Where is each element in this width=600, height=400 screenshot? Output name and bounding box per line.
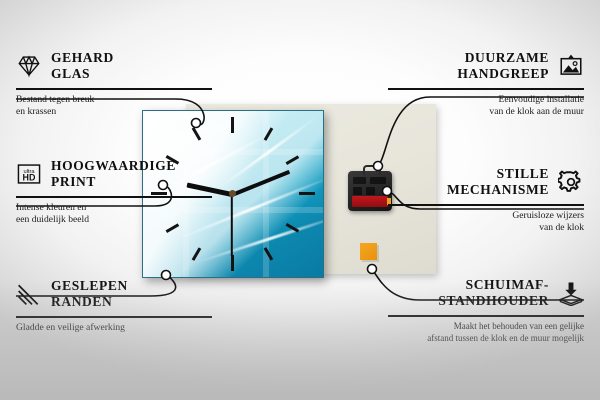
- feature-header: ultra HD HOOGWAARDIGEPRINT: [16, 158, 212, 191]
- feature-subtitle: Eenvoudige installatievan de klok aan de…: [388, 94, 584, 119]
- feature-title: STILLEMECHANISME: [447, 166, 549, 199]
- clock-tick: [192, 247, 201, 260]
- orange-foam-spacer: [360, 243, 377, 260]
- feature-durable-hanger: DUURZAMEHANDGREEP Eenvoudige installatie…: [388, 50, 584, 119]
- divider: [16, 88, 212, 90]
- divider: [388, 204, 584, 206]
- feature-subtitle: Maakt het behouden van een gelijkeafstan…: [388, 321, 584, 344]
- feature-subtitle: Gladde en veilige afwerking: [16, 322, 212, 334]
- diagonal-lines-icon: [16, 281, 42, 307]
- press-down-arrow-icon: [558, 280, 584, 306]
- product-infographic: GEHARDGLAS Bestand tegen breuken krassen…: [0, 0, 600, 400]
- clock-tick: [299, 192, 315, 195]
- picture-frame-icon: [558, 53, 584, 79]
- feature-header: SCHUIMAF-STANDHOUDER: [388, 277, 584, 310]
- gear-icon: [558, 169, 584, 195]
- feature-header: GEHARDGLAS: [16, 50, 212, 83]
- feature-header: GESLEPENRANDEN: [16, 278, 212, 311]
- feature-hd-print: ultra HD HOOGWAARDIGEPRINT Intense kleur…: [16, 158, 212, 227]
- clock-second-hand: [231, 194, 233, 256]
- feature-polished-edges: GESLEPENRANDEN Gladde en veilige afwerki…: [16, 278, 212, 334]
- divider: [16, 316, 212, 318]
- feature-foam-spacer: SCHUIMAF-STANDHOUDER Maakt het behouden …: [388, 277, 584, 344]
- clock-tick: [231, 117, 234, 133]
- feature-header: DUURZAMEHANDGREEP: [388, 50, 584, 83]
- feature-title: DUURZAMEHANDGREEP: [457, 50, 549, 83]
- feature-silent-mechanism: STILLEMECHANISME Geruisloze wijzersvan d…: [388, 166, 584, 235]
- feature-subtitle: Bestand tegen breuken krassen: [16, 94, 212, 119]
- divider: [388, 88, 584, 90]
- clock-tick: [286, 155, 299, 164]
- clock-center-cap: [229, 190, 236, 197]
- clock-tick: [231, 255, 234, 271]
- mechanism-battery: [352, 196, 388, 207]
- feature-subtitle: Intense kleuren eneen duidelijk beeld: [16, 202, 212, 227]
- feature-tempered-glass: GEHARDGLAS Bestand tegen breuken krassen: [16, 50, 212, 119]
- diamond-icon: [16, 53, 42, 79]
- svg-text:HD: HD: [23, 173, 36, 183]
- clock-mechanism-with-battery: [348, 171, 392, 211]
- feature-subtitle: Geruisloze wijzersvan de klok: [388, 210, 584, 235]
- mechanism-hook: [363, 165, 381, 175]
- feature-header: STILLEMECHANISME: [388, 166, 584, 199]
- divider: [388, 315, 584, 317]
- feature-title: SCHUIMAF-STANDHOUDER: [438, 277, 549, 310]
- divider: [16, 196, 212, 198]
- ultra-hd-icon: ultra HD: [16, 161, 42, 187]
- feature-title: HOOGWAARDIGEPRINT: [51, 158, 176, 191]
- feature-title: GESLEPENRANDEN: [51, 278, 128, 311]
- feature-title: GEHARDGLAS: [51, 50, 114, 83]
